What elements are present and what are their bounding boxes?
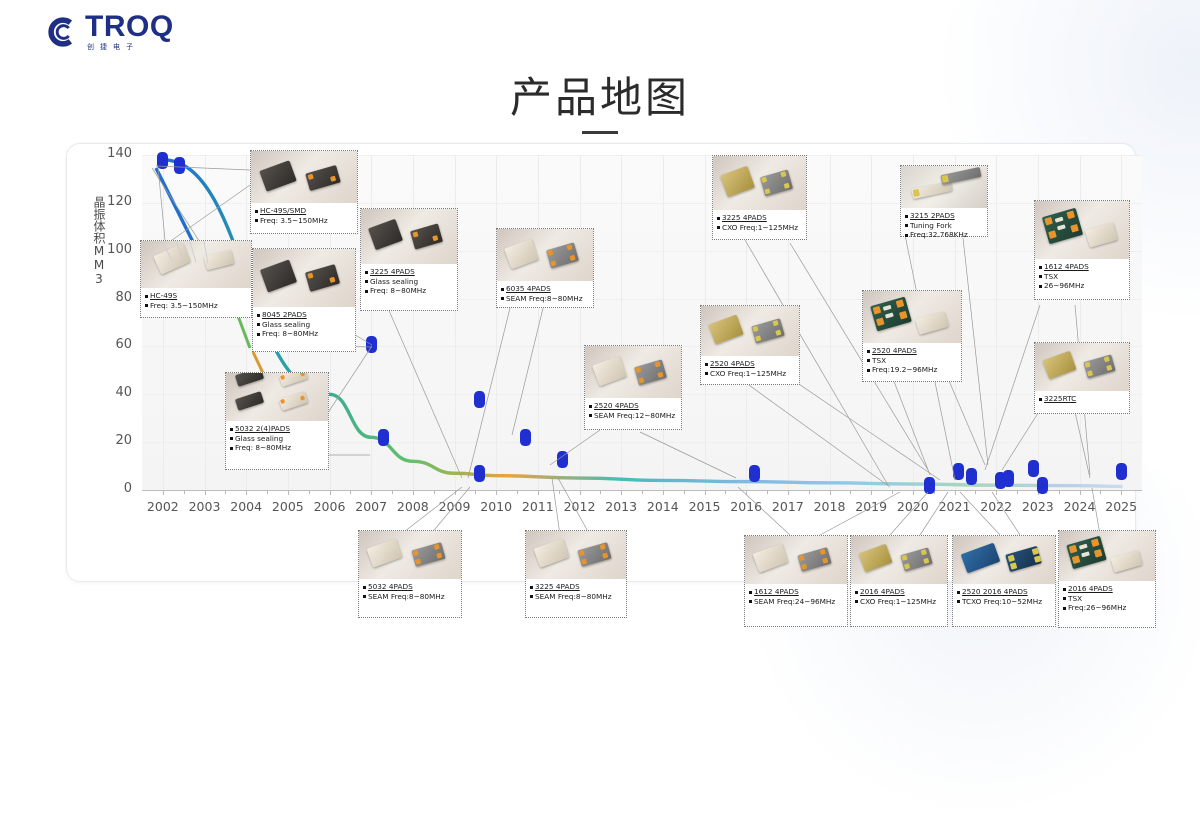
product-photo: [526, 531, 626, 579]
product-callout[interactable]: 2016 4PADSCXO Freq:1~125MHz: [850, 535, 948, 627]
data-marker[interactable]: [157, 152, 168, 169]
bullet-icon: [1039, 398, 1042, 401]
chip-glyph: [546, 242, 579, 268]
bullet-icon: [501, 297, 504, 300]
chip-pad: [307, 273, 313, 279]
chip-glyph: [592, 356, 627, 387]
product-photo: [361, 209, 457, 264]
data-marker[interactable]: [557, 451, 568, 468]
callout-spec: TCXO Freq:10~52MHz: [957, 597, 1051, 607]
bullet-icon: [867, 359, 870, 362]
bullet-icon: [589, 405, 592, 408]
callout-spec: Freq: 3.5~150MHz: [255, 216, 353, 226]
page-title: 产品地图: [0, 64, 1200, 125]
product-callout[interactable]: 1612 4PADSSEAM Freq:24~96MHz: [744, 535, 848, 627]
x-tick-mark: [330, 490, 331, 495]
y-axis-tick: 40: [96, 385, 132, 400]
x-gridline: [538, 155, 539, 490]
callout-spec: Freq: 8~80MHz: [257, 329, 351, 339]
callout-text: 5032 2(4)PADSGlass sealingFreq: 8~80MHz: [226, 421, 328, 457]
chip-glyph: [367, 538, 403, 567]
callout-text: HC-49S/SMDFreq: 3.5~150MHz: [251, 203, 357, 229]
x-tick-mark: [1080, 490, 1081, 495]
chip-pad: [1048, 230, 1057, 239]
chip-glyph: [708, 315, 743, 345]
chip-pad: [566, 244, 572, 250]
x-minor-tick: [267, 490, 268, 494]
x-tick-mark: [455, 490, 456, 495]
chip-glyph: [1005, 546, 1042, 572]
chip-pad: [904, 563, 910, 569]
product-callout[interactable]: 2520 4PADSTSXFreq:19.2~96MHz: [862, 290, 962, 382]
x-tick-mark: [246, 490, 247, 495]
data-marker[interactable]: [366, 336, 377, 353]
x-minor-tick: [434, 490, 435, 494]
bullet-icon: [365, 280, 368, 283]
chip-pad: [942, 175, 949, 183]
chip-glyph: [504, 239, 539, 270]
chip-pad: [602, 552, 608, 558]
bullet-icon: [589, 414, 592, 417]
x-axis-tick: 2017: [767, 499, 809, 514]
chip-pad: [280, 375, 285, 380]
chip-pad: [896, 299, 905, 308]
x-axis-tick: 2005: [267, 499, 309, 514]
x-tick-mark: [788, 490, 789, 495]
chip-glyph: [1085, 222, 1118, 247]
data-marker[interactable]: [1116, 463, 1127, 480]
chip-pad: [581, 559, 587, 565]
bullet-icon: [257, 333, 260, 336]
x-axis-tick: 2022: [975, 499, 1017, 514]
callout-model: 2520 4PADS: [705, 359, 795, 369]
callout-spec: SEAM Freq:12~80MHz: [589, 411, 677, 421]
bullet-icon: [1039, 266, 1042, 269]
callout-model: 2016 4PADS: [1063, 584, 1151, 594]
chip-glyph: [961, 543, 1001, 574]
chip-pad: [773, 320, 779, 326]
callout-model: HC-49S/SMD: [255, 206, 353, 216]
bullet-icon: [957, 600, 960, 603]
chip-pad: [578, 550, 584, 556]
bullet-icon: [1063, 607, 1066, 610]
chip-pad: [873, 306, 882, 315]
x-gridline: [663, 155, 664, 490]
bullet-icon: [255, 210, 258, 213]
x-axis-tick: 2025: [1100, 499, 1142, 514]
bullet-icon: [255, 219, 258, 222]
chip-pad: [764, 188, 770, 194]
bullet-icon: [749, 600, 752, 603]
x-axis-tick: 2018: [809, 499, 851, 514]
data-marker[interactable]: [1028, 460, 1039, 477]
callout-model: 3225RTC: [1039, 394, 1125, 404]
chip-pad: [913, 189, 920, 197]
x-minor-tick: [642, 490, 643, 494]
product-callout[interactable]: 2016 4PADSTSXFreq:26~96MHz: [1058, 530, 1156, 628]
callout-text: 8045 2PADSGlass sealingFreq: 8~80MHz: [253, 307, 355, 343]
chip-pad: [330, 176, 336, 182]
x-tick-mark: [663, 490, 664, 495]
callout-text: 6035 4PADSSEAM Freq:8~80MHz: [497, 281, 593, 307]
chip-pad: [1008, 555, 1015, 562]
x-axis-tick: 2013: [600, 499, 642, 514]
x-tick-mark: [1121, 490, 1122, 495]
x-minor-tick: [684, 490, 685, 494]
chip-pad: [1106, 365, 1112, 371]
data-marker[interactable]: [749, 465, 760, 482]
x-gridline: [371, 155, 372, 490]
product-callout[interactable]: 3225 4PADSCXO Freq:1~125MHz: [712, 155, 807, 240]
y-axis-tick: 120: [96, 194, 132, 209]
chip-glyph: [368, 219, 403, 251]
chip-glyph: [751, 318, 785, 344]
callout-text: 2520 4PADSSEAM Freq:12~80MHz: [585, 398, 681, 424]
callout-model: 3225 4PADS: [530, 582, 622, 592]
cc-logo-icon: [44, 15, 78, 49]
callout-spec: Glass sealing: [365, 277, 453, 287]
product-callout[interactable]: HC-49S/SMDFreq: 3.5~150MHz: [250, 150, 358, 234]
chip-glyph: [940, 167, 981, 185]
bullet-icon: [749, 591, 752, 594]
y-axis-tick: 20: [96, 433, 132, 448]
y-axis-tick: 60: [96, 337, 132, 352]
x-tick-mark: [538, 490, 539, 495]
bullet-icon: [705, 372, 708, 375]
chip-pad: [822, 557, 828, 563]
x-minor-tick: [350, 490, 351, 494]
chip-pad: [883, 305, 892, 311]
bullet-icon: [230, 428, 233, 431]
bullet-icon: [905, 224, 908, 227]
data-marker[interactable]: [966, 468, 977, 485]
x-minor-tick: [559, 490, 560, 494]
bullet-icon: [365, 271, 368, 274]
brand-subtitle: 创捷电子: [87, 44, 174, 51]
chip-glyph: [305, 264, 340, 292]
chip-pad: [1066, 210, 1075, 219]
callout-spec: TSX: [1039, 272, 1125, 282]
chip-pad: [329, 277, 335, 283]
product-photo: [953, 536, 1055, 584]
product-photo: [1035, 343, 1129, 391]
x-axis-tick: 2006: [309, 499, 351, 514]
chip-pad: [1070, 224, 1079, 233]
bullet-icon: [867, 350, 870, 353]
x-axis-tick: 2002: [142, 499, 184, 514]
chip-glyph: [858, 544, 892, 573]
product-callout[interactable]: 1612 4PADSTSX26~96MHz: [1034, 200, 1130, 300]
x-minor-tick: [184, 490, 185, 494]
callout-model: 6035 4PADS: [501, 284, 589, 294]
bullet-icon: [230, 437, 233, 440]
x-axis-tick: 2021: [934, 499, 976, 514]
product-callout[interactable]: 6035 4PADSSEAM Freq:8~80MHz: [496, 228, 594, 308]
title-underline: [582, 131, 618, 134]
chip-pad: [885, 312, 894, 318]
chip-pad: [550, 260, 556, 266]
callout-text: 3225 4PADSSEAM Freq:8~80MHz: [526, 579, 626, 605]
chip-pad: [752, 326, 758, 332]
x-minor-tick: [1059, 490, 1060, 494]
callout-model: 1612 4PADS: [749, 587, 843, 597]
chip-pad: [923, 558, 929, 564]
x-tick-mark: [913, 490, 914, 495]
chip-pad: [432, 235, 438, 241]
chip-pad: [654, 361, 660, 367]
callout-text: 2016 4PADSCXO Freq:1~125MHz: [851, 584, 947, 610]
callout-text: 1612 4PADSTSX26~96MHz: [1035, 259, 1129, 295]
product-callout[interactable]: 3225RTC: [1034, 342, 1130, 414]
chip-glyph: [1042, 208, 1083, 245]
chip-glyph: [634, 359, 667, 385]
x-minor-tick: [517, 490, 518, 494]
x-minor-tick: [850, 490, 851, 494]
x-axis-tick: 2015: [684, 499, 726, 514]
x-axis-tick: 2009: [434, 499, 476, 514]
chip-glyph: [753, 543, 789, 572]
callout-text: 2016 4PADSTSXFreq:26~96MHz: [1059, 581, 1155, 617]
product-photo: [901, 166, 987, 208]
bullet-icon: [705, 363, 708, 366]
callout-spec: SEAM Freq:24~96MHz: [749, 597, 843, 607]
chip-pad: [780, 171, 786, 177]
callout-spec: CXO Freq:1~125MHz: [855, 597, 943, 607]
x-minor-tick: [767, 490, 768, 494]
product-photo: [497, 229, 593, 281]
callout-spec: 26~96MHz: [1039, 281, 1125, 291]
chip-glyph: [305, 165, 341, 191]
product-callout[interactable]: 2520 2016 4PADSTCXO Freq:10~52MHz: [952, 535, 1056, 627]
chip-pad: [436, 552, 442, 558]
chip-pad: [1072, 555, 1081, 564]
chip-glyph: [915, 311, 948, 335]
data-marker[interactable]: [520, 429, 531, 446]
chip-pad: [635, 367, 641, 373]
chip-pad: [1091, 538, 1100, 547]
x-axis-tick: 2007: [350, 499, 392, 514]
chip-pad: [901, 555, 907, 561]
data-marker[interactable]: [1003, 470, 1014, 487]
chip-glyph: [279, 373, 308, 387]
x-gridline: [455, 155, 456, 490]
bullet-icon: [501, 288, 504, 291]
x-axis-tick: 2010: [475, 499, 517, 514]
callout-spec: TSX: [1063, 594, 1151, 604]
chip-glyph: [720, 166, 755, 198]
product-photo: [863, 291, 961, 343]
chip-pad: [1069, 545, 1078, 554]
product-callout[interactable]: 2520 4PADSCXO Freq:1~125MHz: [700, 305, 800, 385]
x-tick-mark: [371, 490, 372, 495]
bullet-icon: [957, 591, 960, 594]
x-axis-tick: 2014: [642, 499, 684, 514]
chip-pad: [1084, 362, 1090, 368]
callout-spec: Glass sealing: [257, 320, 351, 330]
x-gridline: [621, 155, 622, 490]
bullet-icon: [365, 290, 368, 293]
x-tick-mark: [996, 490, 997, 495]
chip-glyph: [259, 160, 297, 192]
x-tick-mark: [496, 490, 497, 495]
callout-text: 3225RTC: [1035, 391, 1129, 408]
callout-model: 2520 4PADS: [589, 401, 677, 411]
chip-glyph: [900, 547, 933, 571]
product-photo: [713, 156, 806, 210]
chip-glyph: [410, 223, 443, 249]
x-gridline: [996, 155, 997, 490]
x-minor-tick: [725, 490, 726, 494]
product-callout[interactable]: 3215 2PADSTuning ForkFreq:32.768KHz: [900, 165, 988, 237]
x-gridline: [163, 155, 164, 490]
product-callout[interactable]: 2520 4PADSSEAM Freq:12~80MHz: [584, 345, 682, 430]
data-marker[interactable]: [1037, 477, 1048, 494]
x-minor-tick: [1017, 490, 1018, 494]
chip-glyph: [235, 373, 264, 387]
chip-glyph: [260, 259, 297, 292]
chip-glyph: [235, 391, 264, 411]
y-axis-tick: 80: [96, 290, 132, 305]
callout-text: 2520 2016 4PADSTCXO Freq:10~52MHz: [953, 584, 1055, 610]
bullet-icon: [257, 314, 260, 317]
product-photo: [745, 536, 847, 584]
product-photo: [226, 373, 328, 421]
product-callout[interactable]: 3225 4PADSGlass sealingFreq: 8~80MHz: [360, 208, 458, 311]
product-callout[interactable]: 5032 4PADSSEAM Freq:8~80MHz: [358, 530, 462, 618]
callout-spec: Freq:19.2~96MHz: [867, 365, 957, 375]
x-tick-mark: [580, 490, 581, 495]
bullet-icon: [530, 586, 533, 589]
product-photo: [253, 249, 355, 307]
callout-text: 2520 4PADSTSXFreq:19.2~96MHz: [863, 343, 961, 379]
chip-pad: [755, 335, 761, 341]
brand-logo: TROQ 创捷电子: [44, 12, 174, 51]
lead-wire: [190, 241, 197, 262]
callout-spec: Glass sealing: [230, 434, 324, 444]
callout-text: 2520 4PADSCXO Freq:1~125MHz: [701, 356, 799, 382]
chip-pad: [1032, 548, 1039, 555]
x-axis-tick: 2019: [850, 499, 892, 514]
data-marker[interactable]: [924, 477, 935, 494]
chip-glyph: [1083, 354, 1116, 378]
product-callout[interactable]: 8045 2PADSGlass sealingFreq: 8~80MHz: [252, 248, 356, 352]
chip-pad: [300, 396, 305, 401]
chip-pad: [1034, 555, 1041, 562]
data-marker[interactable]: [174, 157, 185, 174]
x-axis-tick: 2024: [1059, 499, 1101, 514]
x-minor-tick: [309, 490, 310, 494]
y-axis-tick: 0: [96, 481, 132, 496]
chip-pad: [1087, 370, 1093, 376]
x-tick-mark: [413, 490, 414, 495]
chip-glyph: [1042, 351, 1076, 380]
brand-name: TROQ: [85, 12, 174, 42]
product-photo: [1059, 531, 1155, 581]
chip-pad: [1079, 544, 1088, 550]
callout-spec: Freq:26~96MHz: [1063, 603, 1151, 613]
product-photo: [585, 346, 681, 398]
x-gridline: [580, 155, 581, 490]
callout-text: 3215 2PADSTuning ForkFreq:32.768KHz: [901, 208, 987, 244]
product-callout[interactable]: 3225 4PADSSEAM Freq:8~80MHz: [525, 530, 627, 618]
x-minor-tick: [600, 490, 601, 494]
product-callout[interactable]: HC-49SFreq: 3.5~150MHz: [140, 240, 252, 318]
x-axis-tick: 2003: [184, 499, 226, 514]
chip-glyph: [760, 169, 793, 196]
bullet-icon: [905, 234, 908, 237]
chip-pad: [784, 183, 790, 189]
callout-spec: Freq: 8~80MHz: [365, 286, 453, 296]
x-axis-tick: 2004: [225, 499, 267, 514]
product-photo: [1035, 201, 1129, 259]
chip-pad: [657, 372, 663, 378]
callout-spec: Freq: 3.5~150MHz: [145, 301, 247, 311]
chip-glyph: [797, 547, 831, 572]
chip-pad: [1104, 356, 1110, 362]
x-axis-tick: 2023: [1017, 499, 1059, 514]
data-marker[interactable]: [474, 391, 485, 408]
bullet-icon: [905, 215, 908, 218]
product-callout[interactable]: 5032 2(4)PADSGlass sealingFreq: 8~80MHz: [225, 372, 329, 470]
data-marker[interactable]: [953, 463, 964, 480]
callout-text: 1612 4PADSSEAM Freq:24~96MHz: [745, 584, 847, 610]
chip-pad: [775, 330, 781, 336]
chip-glyph: [577, 542, 611, 567]
data-marker[interactable]: [378, 429, 389, 446]
bullet-icon: [855, 591, 858, 594]
x-axis-tick: 2011: [517, 499, 559, 514]
callout-model: HC-49S: [145, 291, 247, 301]
chip-pad: [412, 550, 418, 556]
chip-pad: [547, 250, 553, 256]
x-tick-mark: [163, 490, 164, 495]
x-tick-mark: [288, 490, 289, 495]
callout-text: 5032 4PADSSEAM Freq:8~80MHz: [359, 579, 461, 605]
chip-pad: [638, 377, 644, 383]
callout-model: 3225 4PADS: [365, 267, 453, 277]
chip-pad: [569, 255, 575, 261]
bullet-icon: [230, 447, 233, 450]
bullet-icon: [363, 586, 366, 589]
callout-model: 8045 2PADS: [257, 310, 351, 320]
chip-pad: [1010, 562, 1017, 569]
chip-glyph: [1066, 536, 1107, 570]
x-tick-mark: [746, 490, 747, 495]
x-minor-tick: [809, 490, 810, 494]
chip-pad: [798, 555, 804, 561]
chip-pad: [801, 564, 807, 570]
data-marker[interactable]: [474, 465, 485, 482]
chip-pad: [434, 544, 440, 550]
bullet-icon: [257, 323, 260, 326]
x-minor-tick: [225, 490, 226, 494]
x-tick-mark: [871, 490, 872, 495]
bullet-icon: [530, 595, 533, 598]
bullet-icon: [855, 600, 858, 603]
chip-pad: [308, 174, 314, 180]
callout-spec: Tuning Fork: [905, 221, 983, 231]
callout-text: HC-49SFreq: 3.5~150MHz: [141, 288, 251, 314]
y-axis-tick: 140: [96, 146, 132, 161]
chip-pad: [921, 549, 927, 555]
chip-pad: [1055, 217, 1064, 223]
x-gridline: [830, 155, 831, 490]
product-photo: [359, 531, 461, 579]
callout-spec: SEAM Freq:8~80MHz: [363, 592, 457, 602]
callout-model: 3225 4PADS: [717, 213, 802, 223]
chip-pad: [1094, 549, 1103, 558]
x-minor-tick: [1100, 490, 1101, 494]
